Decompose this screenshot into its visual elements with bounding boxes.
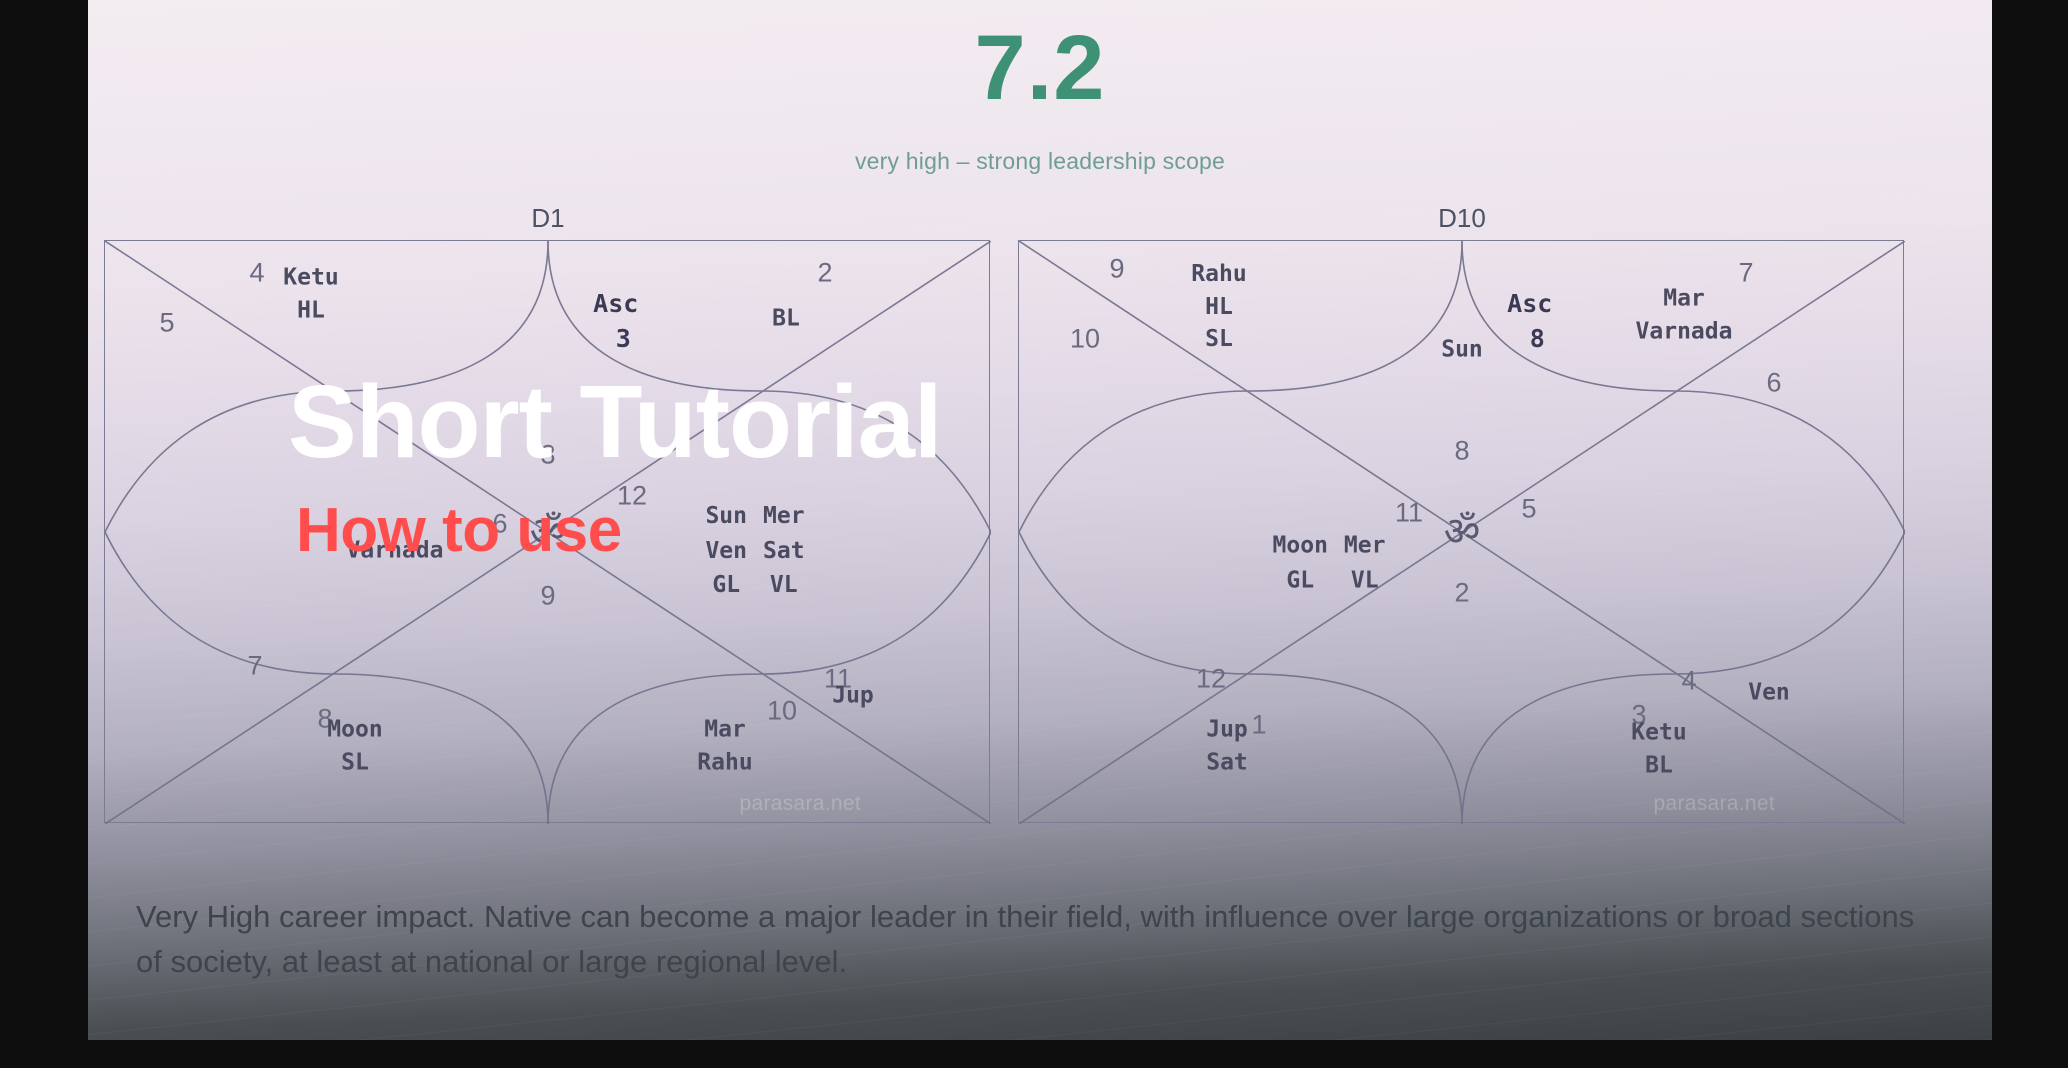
planet: Mer — [763, 500, 805, 533]
page-gutter-right — [1992, 0, 2068, 1068]
house-number: 11 — [1395, 498, 1423, 529]
ascendant-house: 3 — [616, 324, 631, 353]
planet: VL — [1351, 564, 1379, 597]
planet-cluster: Jup Sat — [1206, 713, 1248, 778]
house-number: 4 — [1681, 666, 1696, 697]
om-icon: ॐ — [1444, 512, 1480, 552]
planet-cluster-grid: Sun Mer Ven Sat GL VL — [705, 500, 804, 602]
description-text: Very High career impact. Native can beco… — [136, 895, 1936, 984]
planet: Ven — [705, 535, 747, 568]
planet-cluster: Moon SL — [327, 713, 382, 778]
chart-d1-title: D1 — [104, 203, 992, 234]
chart-d1-watermark: parasara.net — [739, 792, 861, 816]
planet: VL — [770, 569, 798, 602]
house-number: 10 — [1070, 324, 1100, 355]
planet-cluster: Rahu HL SL — [1191, 258, 1246, 356]
planet: Sun — [705, 500, 747, 533]
planet-cluster: Ketu BL — [1631, 716, 1686, 781]
house-number: 5 — [1521, 494, 1536, 525]
ascendant-planets: Sun — [1441, 334, 1483, 367]
planet-cluster: Mar Rahu — [697, 713, 752, 778]
planet: GL — [712, 569, 740, 602]
ascendant-text: Asc — [593, 289, 638, 318]
overlay-title: Short Tutorial — [288, 370, 942, 473]
planet: Moon — [1273, 529, 1328, 562]
chart-d10-box: parasara.net 9 7 10 6 8 11 5 2 12 1 4 3 … — [1018, 240, 1904, 823]
planet-cluster: BL — [772, 303, 800, 336]
house-number: 2 — [1454, 578, 1469, 609]
planet-cluster: Ven — [1748, 677, 1790, 710]
house-number: 9 — [540, 581, 555, 612]
house-number: 4 — [249, 258, 264, 289]
house-number: 7 — [1738, 258, 1753, 289]
planet: Mer — [1344, 529, 1386, 562]
ascendant-house: 8 — [1530, 324, 1545, 353]
slide-sheet: 7.2 very high – strong leadership scope … — [88, 0, 1992, 1040]
planet-cluster: Ketu HL — [283, 261, 338, 326]
ascendant-text: Asc — [1507, 289, 1552, 318]
house-number: 2 — [817, 258, 832, 289]
screenshot-stage: 7.2 very high – strong leadership scope … — [0, 0, 2068, 1068]
planet: GL — [1286, 564, 1314, 597]
planet-cluster-grid: Moon Mer GL VL — [1273, 529, 1386, 596]
house-number: 8 — [1454, 436, 1469, 467]
page-bottom-bar — [0, 1040, 2068, 1068]
ascendant-label: Asc 8 — [1357, 251, 1568, 391]
planet-cluster: Jup — [832, 680, 874, 713]
overlay-subtitle: How to use — [296, 500, 622, 562]
score-label: very high – strong leadership scope — [88, 148, 1992, 175]
house-number: 1 — [1251, 710, 1266, 741]
house-number: 5 — [159, 308, 174, 339]
house-number: 7 — [247, 651, 262, 682]
house-number: 12 — [1196, 664, 1226, 695]
house-number: 9 — [1109, 254, 1124, 285]
chart-d10: D10 parasara.net 9 7 10 6 — [1018, 240, 1904, 823]
planet: Sat — [763, 535, 805, 568]
chart-d10-title: D10 — [1018, 203, 1906, 234]
chart-d10-watermark: parasara.net — [1653, 792, 1775, 816]
page-gutter-left — [0, 0, 88, 1068]
score-value: 7.2 — [88, 22, 1992, 114]
planet-cluster: Mar Varnada — [1636, 282, 1733, 347]
house-number: 10 — [767, 696, 797, 727]
house-number: 6 — [1766, 368, 1781, 399]
